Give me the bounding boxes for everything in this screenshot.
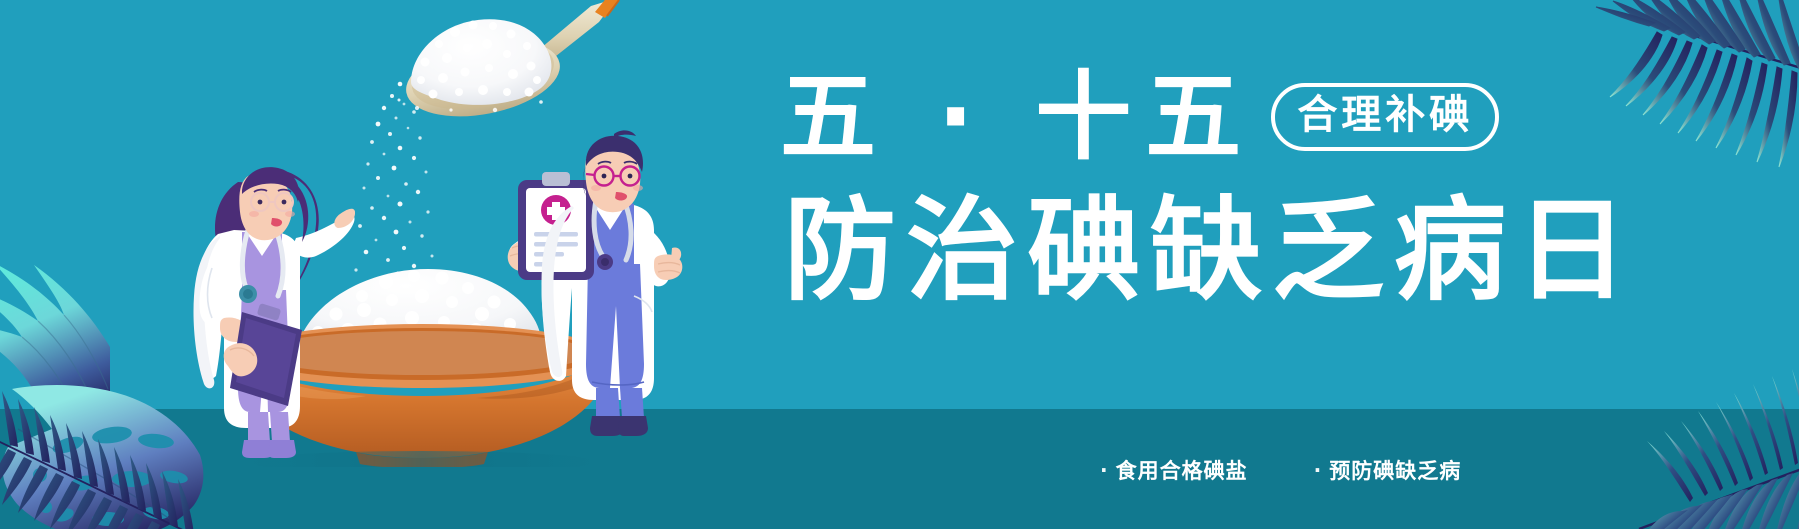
headline-date-row: 五 · 十五 合理补碘 xyxy=(770,62,1770,172)
tagline-item-2-label: 预防碘缺乏病 xyxy=(1329,455,1461,485)
headline-copy-block: 五 · 十五 合理补碘 防治碘缺乏病日 xyxy=(770,62,1770,392)
tagline-item-1-label: 食用合格碘盐 xyxy=(1116,455,1248,485)
wooden-spoon-with-salt-icon xyxy=(355,0,625,121)
tagline-row: · 食用合格碘盐 · 预防碘缺乏病 xyxy=(1100,455,1461,485)
iodine-deficiency-day-banner: 五 · 十五 合理补碘 防治碘缺乏病日 · 食用合格碘盐 · 预防碘缺乏病 xyxy=(0,0,1799,529)
tagline-item-1: · 食用合格碘盐 xyxy=(1100,455,1248,485)
bullet-dot-icon: · xyxy=(1100,460,1109,480)
headline-badge: 合理补碘 xyxy=(1271,83,1499,151)
headline-date: 五 · 十五 xyxy=(780,69,1255,165)
bullet-dot-icon: · xyxy=(1314,460,1323,480)
male-doctor xyxy=(492,128,692,438)
female-doctor xyxy=(150,160,355,458)
headline-main: 防治碘缺乏病日 xyxy=(770,194,1770,308)
tagline-item-2: · 预防碘缺乏病 xyxy=(1314,455,1462,485)
